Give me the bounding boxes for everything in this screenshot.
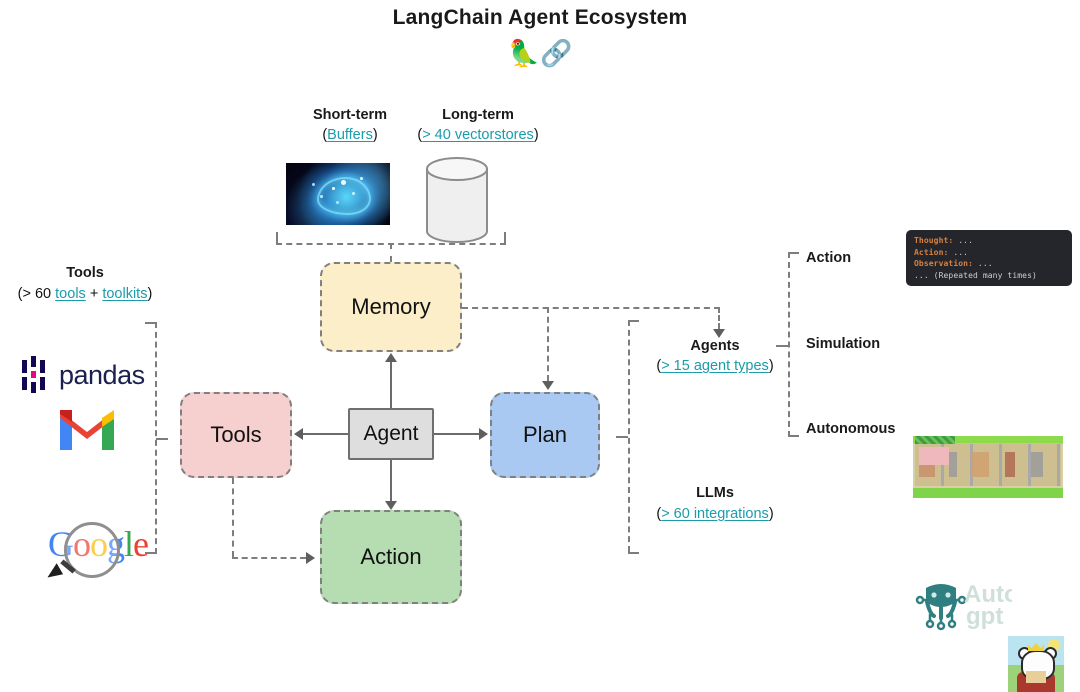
- categories-brace-bottom-tick: [788, 435, 799, 437]
- terminal-line-observation: Observation: ...: [914, 258, 1066, 270]
- terminal-line-repeat: ... (Repeated many times): [914, 270, 1066, 282]
- terminal-line-action: Action: ...: [914, 247, 1066, 259]
- long-term-sublabel: (> 40 vectorstores): [378, 127, 578, 143]
- action-key: Action:: [914, 248, 948, 257]
- buffers-link[interactable]: Buffers: [327, 127, 373, 143]
- llms-title: LLMs: [696, 485, 734, 501]
- tools-node-label: Tools: [210, 422, 261, 448]
- bear-scarf: [1026, 671, 1046, 683]
- action-node-label: Action: [360, 544, 421, 570]
- pandas-wordmark: pandas: [59, 360, 145, 391]
- action-node[interactable]: Action: [320, 510, 462, 604]
- right-group-brace-bottom-tick: [628, 552, 639, 554]
- generative-agents-image: [913, 436, 1063, 498]
- town-pink-room: [919, 447, 949, 464]
- paren-close: ): [373, 127, 378, 143]
- memory-brace-stem: [390, 243, 392, 262]
- memory-to-agents-arrow: [713, 329, 725, 338]
- tools-brace-top-tick: [145, 322, 156, 324]
- agent-to-tools-line: [303, 433, 348, 435]
- agent-to-action-arrow: [385, 501, 397, 510]
- long-term-title: Long-term: [442, 107, 514, 123]
- paren-close: ): [147, 286, 152, 302]
- gmail-logo: [58, 408, 114, 450]
- plan-node-label: Plan: [523, 422, 567, 448]
- google-search-logo: Google: [38, 520, 148, 576]
- terminal-line-thought: Thought: ...: [914, 235, 1066, 247]
- action-value: ...: [948, 248, 968, 257]
- tools-group-title: Tools: [66, 265, 104, 281]
- categories-brace-stem: [776, 345, 788, 347]
- llms-label: LLMs: [630, 485, 800, 501]
- town-trees: [915, 436, 955, 444]
- memory-node[interactable]: Memory: [320, 262, 462, 352]
- memory-node-label: Memory: [351, 294, 430, 320]
- agent-node[interactable]: Agent: [348, 408, 434, 460]
- react-trace-terminal: Thought: ... Action: ... Observation: ..…: [906, 230, 1072, 286]
- llm-integrations-link[interactable]: > 60 integrations: [661, 506, 769, 522]
- autogpt-logo: Auto gpt: [908, 578, 1012, 636]
- agent-to-memory-arrow: [385, 353, 397, 362]
- memory-brace-right-tick: [504, 232, 506, 244]
- category-action-label: Action: [806, 250, 851, 266]
- tools-plus: +: [86, 286, 103, 302]
- tools-node[interactable]: Tools: [180, 392, 292, 478]
- plan-node[interactable]: Plan: [490, 392, 600, 478]
- page-title: LangChain Agent Ecosystem: [0, 6, 1080, 30]
- thought-value: ...: [953, 236, 973, 245]
- agent-to-plan-line: [434, 433, 479, 435]
- memory-to-plan-vline: [547, 307, 549, 381]
- toolkits-link[interactable]: toolkits: [102, 286, 147, 302]
- crown-icon: [1028, 643, 1044, 651]
- memory-to-agents-vline: [718, 307, 720, 329]
- observation-value: ...: [973, 259, 993, 268]
- tools-group-sublabel: (> 60 tools + toolkits): [0, 286, 170, 302]
- tools-to-action-arrow: [306, 552, 315, 564]
- agents-title: Agents: [690, 338, 739, 354]
- category-simulation-label: Simulation: [806, 336, 880, 352]
- short-term-title: Short-term: [313, 107, 387, 123]
- category-autonomous-label: Autonomous: [806, 421, 895, 437]
- agent-to-action-line: [390, 460, 392, 502]
- agents-label: Agents: [630, 338, 800, 354]
- agent-to-plan-arrow: [479, 428, 488, 440]
- observation-key: Observation:: [914, 259, 973, 268]
- categories-brace-top-tick: [788, 252, 799, 254]
- svg-text:gpt: gpt: [966, 603, 1003, 630]
- agent-to-tools-arrow: [294, 428, 303, 440]
- agents-sublabel: (> 15 agent types): [630, 358, 800, 374]
- babyagi-image: [1008, 636, 1064, 692]
- memory-brace-left-tick: [276, 232, 278, 244]
- right-group-brace-line: [628, 320, 630, 552]
- tools-group-label: Tools: [0, 265, 170, 281]
- categories-brace-line: [788, 252, 790, 437]
- paren-close: ): [769, 506, 774, 522]
- memory-right-hline: [462, 307, 720, 309]
- tools-count-prefix: (> 60: [18, 286, 55, 302]
- right-group-brace-top-tick: [628, 320, 639, 322]
- agent-node-label: Agent: [364, 422, 419, 446]
- tools-brace-stem: [156, 438, 168, 440]
- agent-to-memory-line: [390, 362, 392, 408]
- brain-image: [286, 163, 390, 225]
- memory-to-plan-arrow: [542, 381, 554, 390]
- long-term-label: Long-term: [378, 107, 578, 123]
- paren-close: ): [534, 127, 539, 143]
- paren-close: ): [769, 358, 774, 374]
- langchain-emoji: 🦜🔗: [0, 38, 1080, 68]
- agent-types-link[interactable]: > 15 agent types: [661, 358, 769, 374]
- tools-link[interactable]: tools: [55, 286, 86, 302]
- tools-to-action-hline: [232, 557, 306, 559]
- vectorstores-link[interactable]: > 40 vectorstores: [422, 127, 534, 143]
- llms-sublabel: (> 60 integrations): [630, 506, 800, 522]
- thought-key: Thought:: [914, 236, 953, 245]
- right-group-brace-stem: [616, 436, 628, 438]
- vectorstore-cylinder-icon: [423, 155, 491, 250]
- cursor-arrow-icon: [45, 562, 63, 577]
- pandas-logo: pandas: [20, 355, 160, 395]
- tools-to-action-vline: [232, 478, 234, 557]
